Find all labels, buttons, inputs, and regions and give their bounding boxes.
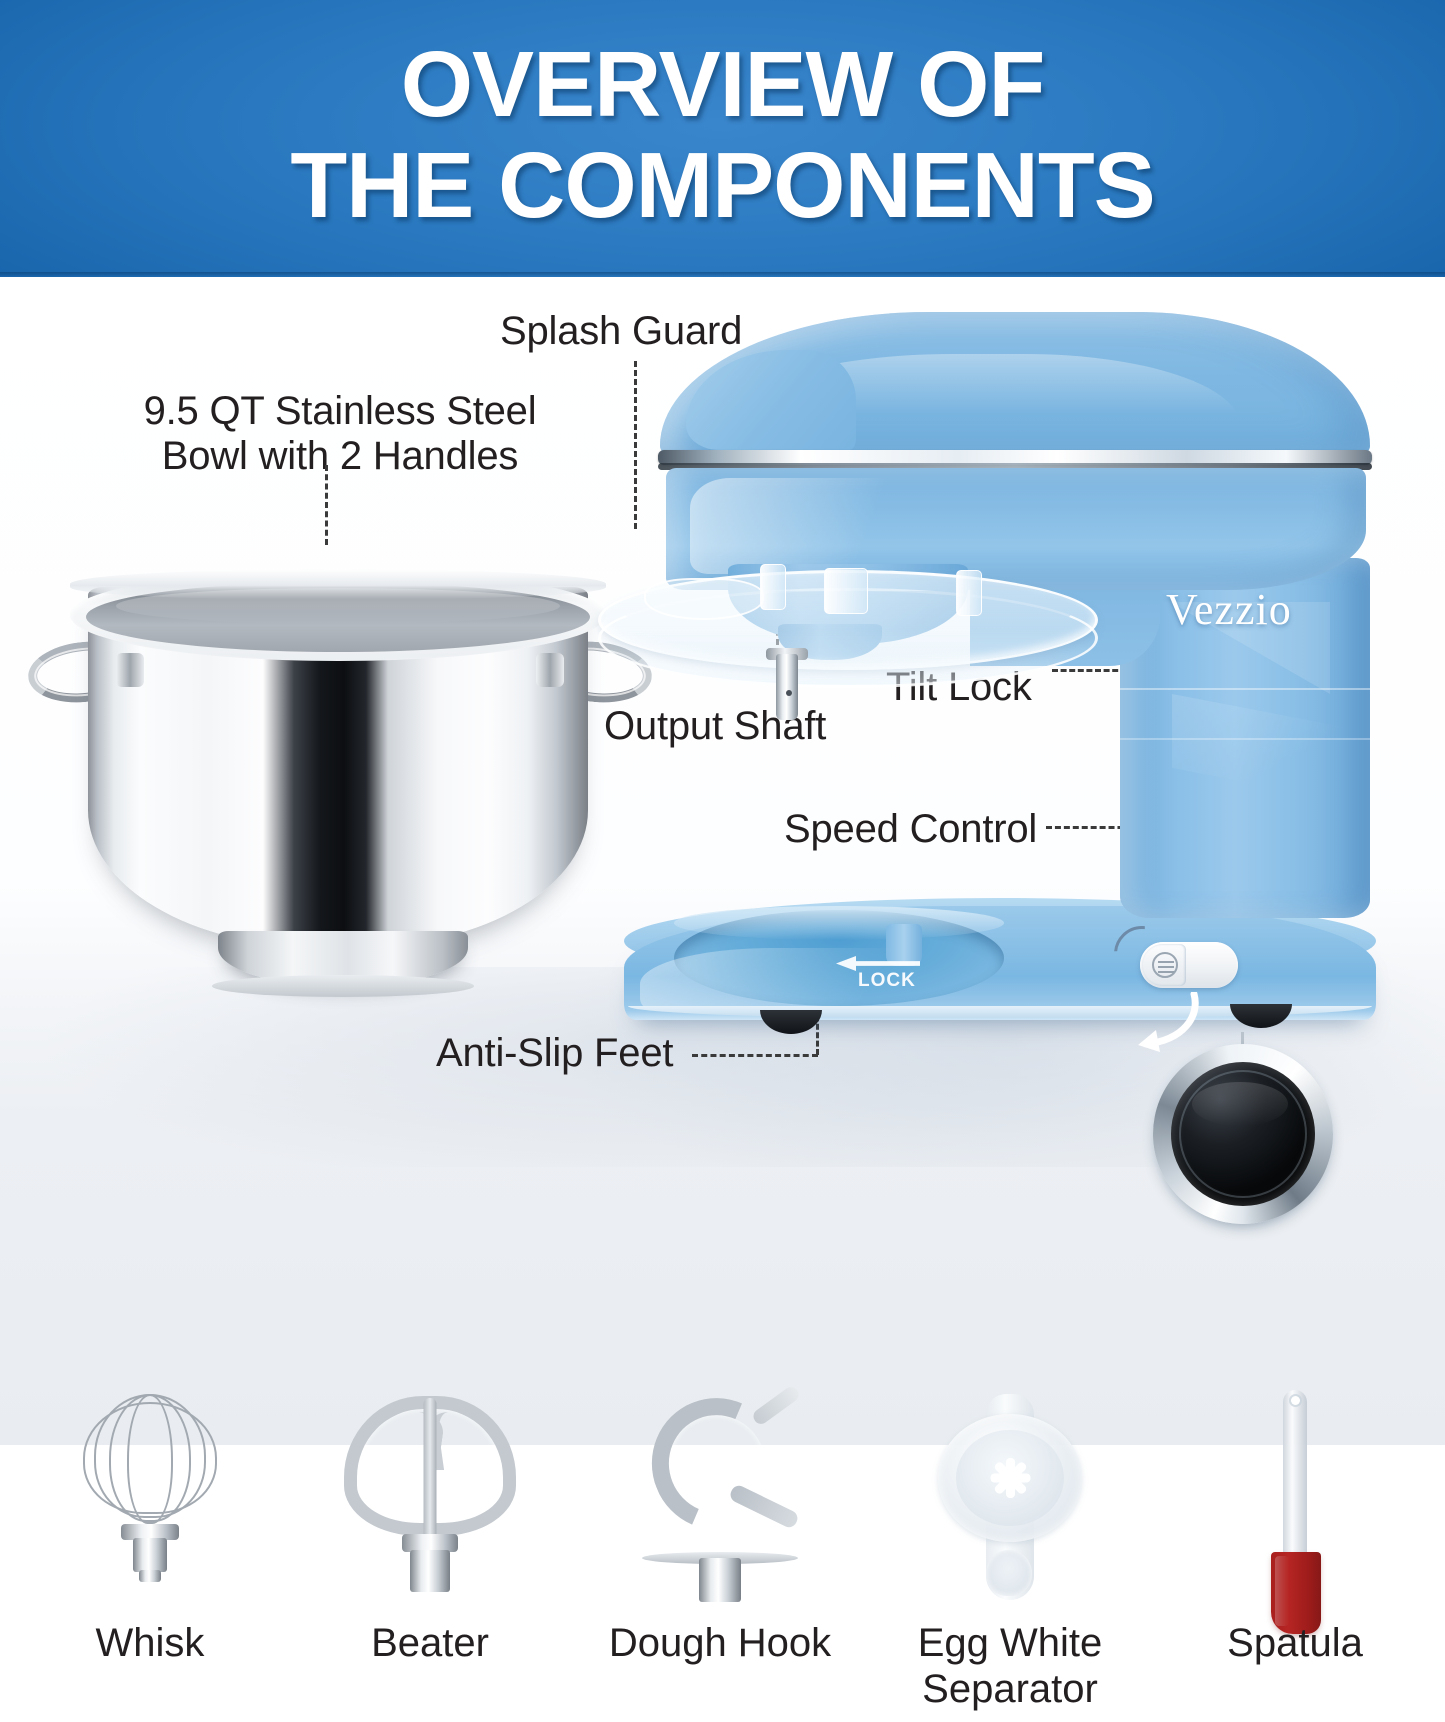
- splash-guard-clip-a: [760, 564, 786, 610]
- bowl-handle-mount-right: [536, 653, 564, 687]
- bowl-pedestal-lip: [212, 975, 474, 997]
- stainless-steel-bowl: [20, 557, 660, 1027]
- callout-anti-slip-feet-leader-horizontal: [692, 1054, 818, 1057]
- lock-indicator: LOCK: [836, 956, 956, 1000]
- lock-arrow-icon: [836, 956, 920, 971]
- beater-spine: [424, 1398, 437, 1540]
- spatula-label: Spatula: [1175, 1620, 1415, 1666]
- separator-bowl-inner: [956, 1430, 1064, 1526]
- brand-logo: Vezzio: [1166, 584, 1386, 635]
- callout-bowl-leader: [325, 465, 328, 545]
- header-banner: OVERVIEW OF THE COMPONENTS: [0, 0, 1445, 277]
- splash-guard-pour-chute: [644, 578, 764, 620]
- separator-hang-hole: [986, 1550, 1032, 1596]
- callout-bowl-label: 9.5 QT Stainless Steel Bowl with 2 Handl…: [130, 389, 550, 479]
- bowl-handle-mount-left: [116, 653, 144, 687]
- accessories-row: Whisk Beater Dough Hook: [0, 1382, 1445, 1722]
- egg-white-separator-label: Egg White Separator: [890, 1620, 1130, 1712]
- accessory-whisk: Whisk: [30, 1382, 270, 1722]
- accessory-dough-hook: Dough Hook: [600, 1382, 840, 1722]
- column-seam-upper: [1120, 688, 1370, 690]
- tilt-rotation-arrow-icon: [1130, 992, 1206, 1056]
- tilt-lock-icon: [1152, 952, 1178, 978]
- stand-mixer: LOCK Vezzio: [600, 302, 1400, 1042]
- whisk-shank: [133, 1538, 167, 1572]
- output-shaft-pin: [786, 690, 792, 696]
- page-title: OVERVIEW OF THE COMPONENTS: [0, 34, 1445, 236]
- output-shaft: [776, 654, 798, 720]
- beater-label: Beater: [310, 1620, 550, 1666]
- spatula-handle: [1283, 1390, 1307, 1560]
- splash-guard-clip-b: [824, 568, 868, 614]
- whisk-label: Whisk: [30, 1620, 270, 1666]
- egg-white-separator-icon: [890, 1382, 1130, 1612]
- anti-slip-foot-right: [1230, 1004, 1292, 1028]
- anti-slip-foot-left: [760, 1010, 822, 1034]
- whisk-loop-4: [83, 1402, 217, 1514]
- splash-guard-clip-c: [956, 570, 982, 616]
- dough-hook-icon: [600, 1382, 840, 1612]
- bowl-rim-highlight: [70, 569, 606, 599]
- dough-hook-label: Dough Hook: [600, 1620, 840, 1666]
- dough-hook-tip: [751, 1384, 802, 1427]
- lock-label: LOCK: [858, 970, 916, 992]
- spatula-hang-hole: [1291, 1396, 1300, 1405]
- head-front-tip: [686, 350, 856, 450]
- dough-hook-shank: [699, 1558, 741, 1602]
- bowl-seat-lip: [674, 906, 1004, 940]
- spatula-icon: [1175, 1382, 1415, 1612]
- accessory-spatula: Spatula: [1175, 1382, 1415, 1722]
- accessory-beater: Beater: [310, 1382, 550, 1722]
- whisk-icon: [30, 1382, 270, 1612]
- product-stage: 9.5 QT Stainless Steel Bowl with 2 Handl…: [0, 277, 1445, 1445]
- column-seam-lower: [1120, 738, 1370, 740]
- speed-control-knob-gloss: [1192, 1082, 1288, 1126]
- beater-shank: [410, 1550, 450, 1592]
- beater-icon: [310, 1382, 550, 1612]
- spatula-head-highlight: [1275, 1556, 1289, 1626]
- accessory-egg-white-separator: Egg White Separator: [890, 1382, 1130, 1722]
- whisk-shank-tip: [139, 1570, 161, 1582]
